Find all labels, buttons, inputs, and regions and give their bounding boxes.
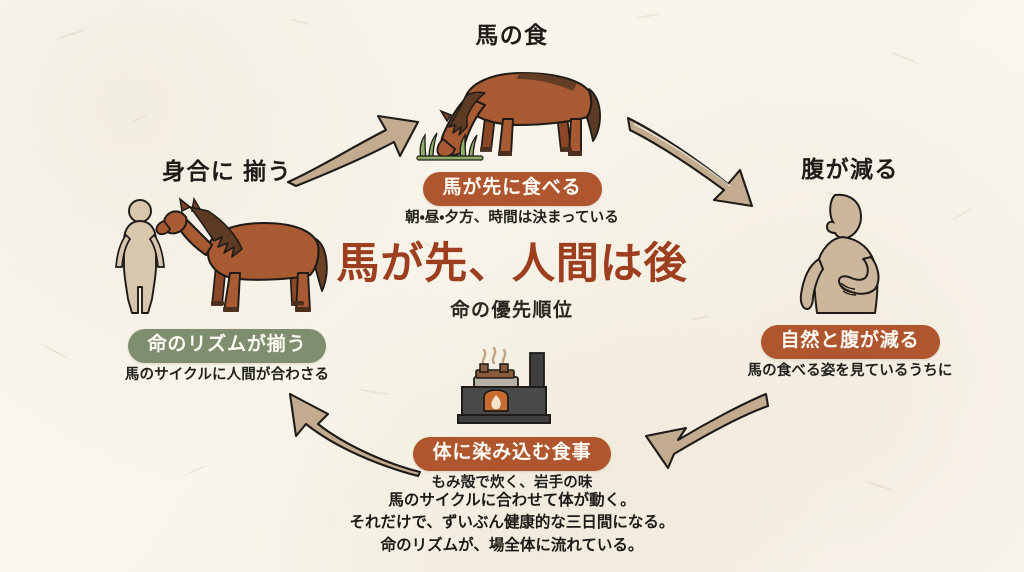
badge-horse-eating[interactable]: 馬が先に食べる [423, 172, 602, 206]
caption-hunger: 馬の食べる姿を見ているうちに [700, 364, 1000, 380]
footer-note: 馬のサイクルに合わせて体が動く。 それだけで、ずいぶん健康的な三日間になる。 命… [0, 490, 1024, 558]
person-holding-belly-icon [791, 191, 909, 315]
footer-line-2: それだけで、ずいぶん健康的な三日間になる。 [0, 512, 1024, 535]
node-heading-hunger: 腹が減る [700, 158, 1000, 181]
node-hunger: 腹が減る 自然と腹が減る 馬の食べる姿を見ているうちに [700, 158, 1000, 380]
badge-meal[interactable]: 体に染み込む食事 [413, 437, 612, 471]
node-meal: 体に染み込む食事 もみ殻で炊く、岩手の味 [362, 343, 662, 492]
person-and-horse-icon [112, 195, 342, 323]
footer-line-3: 命のリズムが、場全体に流れている。 [0, 535, 1024, 558]
node-horse-eating: 馬の食 [357, 24, 667, 227]
node-heading-horse-eating: 馬の食 [357, 24, 667, 47]
footer-line-1: 馬のサイクルに合わせて体が動く。 [0, 490, 1024, 513]
badge-hunger[interactable]: 自然と腹が減る [761, 325, 940, 359]
node-heading-rhythm: 身合に 揃う [62, 160, 392, 183]
caption-rhythm: 馬のサイクルに人間が合わさる [62, 368, 392, 384]
caption-horse-eating: 朝・昼・夕方、時間は決まっている [357, 211, 667, 227]
node-rhythm: 身合に 揃う [62, 160, 392, 384]
badge-rhythm[interactable]: 命のリズムが揃う [128, 329, 327, 363]
wood-stove-icon [450, 343, 574, 429]
infographic-canvas: 馬の食 [0, 0, 1024, 572]
grazing-horse-icon [407, 59, 617, 164]
